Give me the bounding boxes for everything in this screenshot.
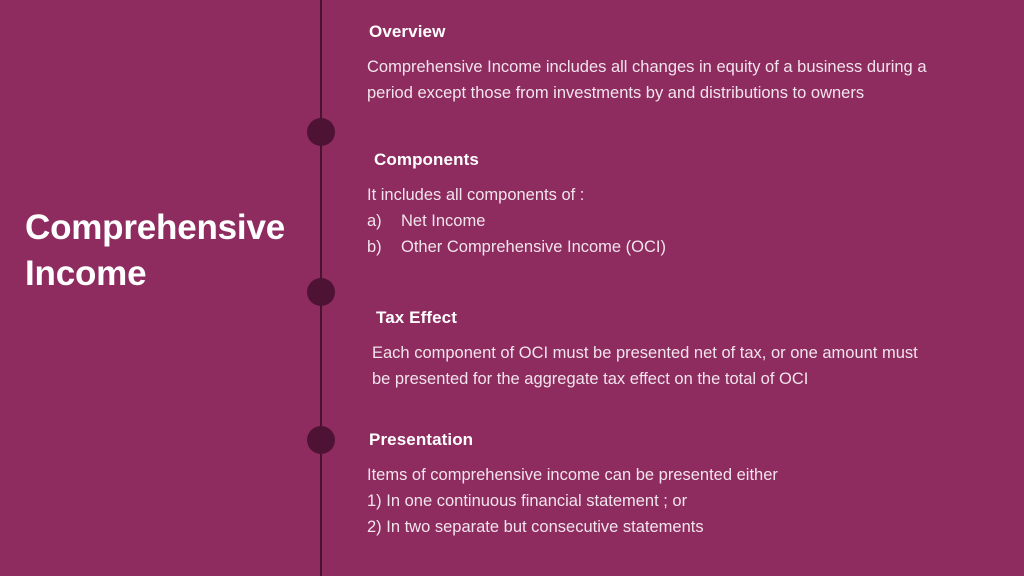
title-panel: Comprehensive Income (0, 0, 321, 576)
section-body-overview: Comprehensive Income includes all change… (321, 54, 1011, 106)
components-list: a) Net Income b) Other Comprehensive Inc… (367, 208, 1011, 260)
section-heading-presentation: Presentation (321, 430, 1011, 450)
list-item-marker: a) (367, 208, 401, 234)
numbered-line: 2) In two separate but consecutive state… (367, 514, 1011, 540)
list-item-marker: b) (367, 234, 401, 260)
slide-canvas: Comprehensive Income Overview Comprehens… (0, 0, 1024, 576)
section-heading-tax-effect: Tax Effect (321, 308, 1011, 328)
body-line: period except those from investments by … (367, 80, 1011, 106)
section-components: Components It includes all components of… (321, 150, 1011, 260)
section-presentation: Presentation Items of comprehensive inco… (321, 430, 1011, 540)
body-line: Each component of OCI must be presented … (372, 340, 1011, 366)
section-overview: Overview Comprehensive Income includes a… (321, 22, 1011, 106)
section-heading-overview: Overview (321, 22, 1011, 42)
section-body-components: It includes all components of : a) Net I… (321, 182, 1011, 260)
list-item-label: Other Comprehensive Income (OCI) (401, 234, 666, 260)
list-item-label: Net Income (401, 208, 485, 234)
numbered-line: 1) In one continuous financial statement… (367, 488, 1011, 514)
page-title: Comprehensive Income (25, 205, 310, 297)
section-body-tax-effect: Each component of OCI must be presented … (321, 340, 1011, 392)
list-item: a) Net Income (367, 208, 1011, 234)
section-heading-components: Components (321, 150, 1011, 170)
section-tax-effect: Tax Effect Each component of OCI must be… (321, 308, 1011, 392)
list-item: b) Other Comprehensive Income (OCI) (367, 234, 1011, 260)
body-line: Comprehensive Income includes all change… (367, 54, 1011, 80)
section-body-presentation: Items of comprehensive income can be pre… (321, 462, 1011, 540)
body-line: Items of comprehensive income can be pre… (367, 462, 1011, 488)
content-panel: Overview Comprehensive Income includes a… (321, 0, 1024, 576)
body-line: be presented for the aggregate tax effec… (372, 366, 1011, 392)
body-intro-line: It includes all components of : (367, 182, 1011, 208)
